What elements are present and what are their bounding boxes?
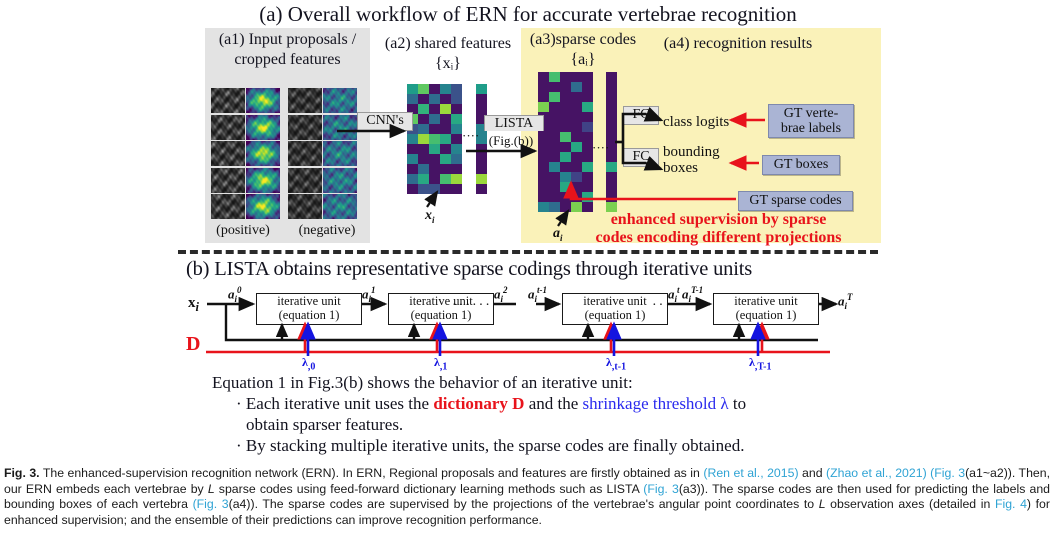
panel-b-ellipsis-2: ······ — [652, 298, 692, 314]
heatmap-cell — [571, 102, 582, 112]
heatmap-cell — [538, 172, 549, 182]
heatmap-cell — [451, 94, 462, 104]
output-bbox-line2: boxes — [663, 160, 698, 176]
heatmap-cell — [440, 164, 451, 174]
heatmap-cell — [549, 92, 560, 102]
heatmap-cell — [571, 192, 582, 202]
heatmap-cell — [571, 92, 582, 102]
feature-heatmap-thumbnail — [246, 194, 280, 219]
heatmap-cell — [549, 182, 560, 192]
heatmap-cell — [538, 102, 549, 112]
panel-b-ellipsis-1: ······ — [452, 298, 492, 314]
activation-label-at-1: ait-1 — [528, 285, 547, 304]
heatmap-cell — [582, 162, 593, 172]
lambda-label-1: λ,1 — [434, 355, 447, 372]
unit-1-line1: iterative unit — [277, 294, 341, 308]
activation-label-a1: ai1 — [362, 285, 376, 304]
heatmap-cell — [440, 84, 451, 94]
lista-figref-label: (Fig.(b)) — [482, 133, 540, 149]
heatmap-cell — [418, 134, 429, 144]
heatmap-cell — [538, 92, 549, 102]
heatmap-cell — [582, 112, 593, 122]
heatmap-cell — [549, 72, 560, 82]
proposal-mri-thumbnail — [288, 141, 322, 166]
figure-caption: Fig. 3. The enhanced-supervision recogni… — [4, 466, 1050, 528]
feature-heatmap-thumbnail — [323, 168, 357, 193]
caption-t7: (a4)). The sparse codes are supervised b… — [229, 497, 819, 511]
heatmap-cell — [560, 102, 571, 112]
heatmap-cell — [582, 192, 593, 202]
heatmap-cell — [571, 132, 582, 142]
heatmap-cell — [549, 102, 560, 112]
panel-a3-ellipsis: ···· — [592, 140, 608, 156]
equation-explanation: Equation 1 in Fig.3(b) shows the behavio… — [212, 372, 892, 456]
heatmap-cell — [440, 124, 451, 134]
panel-b-title: (b) LISTA obtains representative sparse … — [186, 258, 886, 281]
heatmap-cell — [582, 122, 593, 132]
heatmap-cell — [440, 114, 451, 124]
feature-heatmap-thumbnail — [246, 141, 280, 166]
caption-italic-L-2: L — [819, 497, 826, 511]
heatmap-cell — [451, 124, 462, 134]
caption-t8: observation axes (detailed in — [826, 497, 995, 511]
heatmap-cell — [440, 154, 451, 164]
heatmap-cell — [407, 174, 418, 184]
panel-a2-title: (a2) shared features {xᵢ} — [378, 34, 518, 74]
heatmap-cell — [560, 132, 571, 142]
proposal-mri-thumbnail — [288, 115, 322, 140]
heatmap-cell — [549, 172, 560, 182]
sparse-codes-heatmap — [538, 72, 593, 212]
heatmap-cell — [407, 144, 418, 154]
heatmap-cell — [418, 154, 429, 164]
heatmap-strip-cell — [476, 84, 487, 94]
heatmap-cell — [549, 132, 560, 142]
heatmap-cell — [451, 174, 462, 184]
heatmap-cell — [451, 164, 462, 174]
heatmap-cell — [451, 184, 462, 194]
iterative-unit-T: iterative unit (equation 1) — [713, 293, 819, 325]
heatmap-cell — [429, 124, 440, 134]
heatmap-cell — [418, 114, 429, 124]
heatmap-strip-cell — [476, 154, 487, 164]
unit-t-line1: iterative unit — [583, 294, 647, 308]
heatmap-cell — [407, 94, 418, 104]
heatmap-strip-cell — [476, 164, 487, 174]
caption-ref-fig3-a4[interactable]: (Fig. 3 — [193, 497, 229, 511]
proposal-mri-thumbnail — [211, 168, 245, 193]
output-bbox-line1: bounding — [663, 144, 720, 160]
heatmap-cell — [538, 182, 549, 192]
activation-label-a0: ai0 — [228, 285, 242, 304]
feature-heatmap-thumbnail — [323, 115, 357, 140]
heatmap-cell — [549, 192, 560, 202]
caption-t5: sparse codes using feed-forward dictiona… — [215, 482, 644, 496]
heatmap-strip-cell — [606, 122, 617, 132]
enhanced-supervision-note: enhanced supervision by sparse codes enc… — [556, 211, 881, 247]
heatmap-cell — [549, 82, 560, 92]
heatmap-cell — [571, 72, 582, 82]
caption-ref-fig3-a1a2[interactable]: (Fig. 3 — [930, 466, 965, 480]
heatmap-cell — [429, 134, 440, 144]
heatmap-cell — [440, 184, 451, 194]
cnn-operator-label: CNN's — [357, 112, 413, 131]
panel-b-input-label: xi — [188, 295, 199, 315]
heatmap-strip-cell — [606, 192, 617, 202]
caption-citation-zhao[interactable]: (Zhao et al., 2021) — [826, 466, 927, 480]
heatmap-cell — [560, 82, 571, 92]
heatmap-cell — [538, 82, 549, 92]
heatmap-cell — [440, 94, 451, 104]
heatmap-cell — [440, 144, 451, 154]
caption-ref-fig4[interactable]: Fig. 4 — [995, 497, 1027, 511]
heatmap-cell — [440, 174, 451, 184]
proposal-mri-thumbnail — [288, 168, 322, 193]
heatmap-cell — [571, 152, 582, 162]
red-note-line2: codes encoding different projections — [595, 229, 841, 246]
heatmap-cell — [429, 104, 440, 114]
heatmap-cell — [429, 114, 440, 124]
heatmap-cell — [549, 162, 560, 172]
heatmap-cell — [560, 182, 571, 192]
panel-divider — [178, 250, 878, 254]
heatmap-cell — [582, 182, 593, 192]
heatmap-cell — [429, 144, 440, 154]
heatmap-cell — [549, 122, 560, 132]
heatmap-cell — [418, 144, 429, 154]
heatmap-cell — [571, 112, 582, 122]
heatmap-cell — [429, 84, 440, 94]
heatmap-strip-cell — [476, 94, 487, 104]
equation-note-bullet2: · By stacking multiple iterative units, … — [246, 435, 892, 456]
heatmap-cell — [560, 152, 571, 162]
unit-1-line2: (equation 1) — [279, 308, 340, 322]
feature-heatmap-thumbnail — [246, 168, 280, 193]
heatmap-cell — [571, 182, 582, 192]
shared-features-heatmap — [407, 84, 462, 194]
heatmap-cell — [571, 82, 582, 92]
heatmap-cell — [407, 84, 418, 94]
panel-a2-ellipsis: ···· — [462, 128, 478, 144]
bullet1-part-b: and the — [524, 394, 582, 413]
fc-head-class: FC — [623, 106, 659, 125]
red-note-line1: enhanced supervision by sparse — [611, 211, 827, 228]
heatmap-cell — [560, 192, 571, 202]
heatmap-cell — [418, 184, 429, 194]
equation-note-bullet1: · Each iterative unit uses the dictionar… — [246, 393, 892, 414]
heatmap-cell — [418, 164, 429, 174]
feature-heatmap-thumbnail — [323, 141, 357, 166]
heatmap-cell — [407, 184, 418, 194]
heatmap-cell — [560, 92, 571, 102]
proposal-mri-thumbnail — [211, 115, 245, 140]
heatmap-cell — [418, 104, 429, 114]
lista-operator-label: LISTA — [484, 115, 544, 131]
caption-italic-L-1: L — [208, 482, 215, 496]
heatmap-cell — [582, 72, 593, 82]
heatmap-cell — [549, 152, 560, 162]
heatmap-cell — [549, 142, 560, 152]
caption-ref-fig3-a3[interactable]: (Fig. 3 — [643, 482, 679, 496]
heatmap-strip-cell — [476, 184, 487, 194]
gt-vertebrae-labels-line2: brae labels — [781, 121, 841, 136]
bullet1-part-a: · Each iterative unit uses the — [236, 394, 433, 413]
heatmap-strip-cell — [606, 82, 617, 92]
lambda-label-T-1: λ,T-1 — [749, 355, 772, 372]
activation-label-a2: ai2 — [494, 285, 508, 304]
heatmap-cell — [560, 112, 571, 122]
heatmap-cell — [451, 144, 462, 154]
heatmap-cell — [429, 154, 440, 164]
panel-a1-caption-positive: (positive) — [208, 223, 278, 239]
heatmap-cell — [418, 124, 429, 134]
heatmap-cell — [429, 94, 440, 104]
heatmap-cell — [440, 134, 451, 144]
fc-head-bbox: FC — [623, 148, 659, 167]
feature-heatmap-thumbnail — [246, 115, 280, 140]
heatmap-cell — [451, 154, 462, 164]
heatmap-cell — [571, 142, 582, 152]
heatmap-cell — [538, 162, 549, 172]
heatmap-strip-cell — [476, 174, 487, 184]
heatmap-cell — [418, 94, 429, 104]
proposal-mri-thumbnail — [211, 88, 245, 113]
gt-boxes-box: GT boxes — [762, 155, 840, 175]
proposal-mri-thumbnail — [288, 88, 322, 113]
heatmap-cell — [429, 164, 440, 174]
heatmap-cell — [560, 172, 571, 182]
heatmap-cell — [582, 172, 593, 182]
caption-t2: and — [799, 466, 826, 480]
lista-label-text: LISTA — [495, 116, 534, 131]
heatmap-cell — [538, 72, 549, 82]
unit-T-line2: (equation 1) — [736, 308, 797, 322]
heatmap-cell — [560, 72, 571, 82]
heatmap-cell — [549, 112, 560, 122]
lambda-label-t-1: λ,t-1 — [606, 355, 626, 372]
heatmap-cell — [451, 104, 462, 114]
heatmap-cell — [571, 122, 582, 132]
bullet1-dictionary: dictionary D — [433, 394, 524, 413]
output-bounding-boxes: bounding boxes — [663, 144, 731, 176]
heatmap-strip-cell — [606, 162, 617, 172]
caption-t1: The enhanced-supervision recognition net… — [40, 466, 704, 480]
panel-b-dictionary-label: D — [186, 333, 200, 356]
heatmap-cell — [582, 92, 593, 102]
heatmap-cell — [451, 134, 462, 144]
panel-a4-title: (a4) recognition results — [648, 34, 828, 54]
heatmap-cell — [560, 122, 571, 132]
panel-a1-caption-negative: (negative) — [288, 223, 366, 239]
equation-note-line1: Equation 1 in Fig.3(b) shows the behavio… — [212, 372, 892, 393]
panel-a1-title: (a1) Input proposals / cropped features — [205, 30, 370, 70]
feature-heatmap-thumbnail — [323, 88, 357, 113]
output-class-logits: class logits — [663, 114, 753, 130]
heatmap-strip-cell — [606, 92, 617, 102]
equation-note-bullet1-cont: obtain sparser features. — [246, 414, 892, 435]
caption-label: Fig. 3. — [4, 466, 40, 480]
heatmap-cell — [571, 172, 582, 182]
heatmap-cell — [407, 134, 418, 144]
gt-vertebrae-labels-line1: GT verte- — [784, 106, 839, 121]
heatmap-strip-cell — [606, 112, 617, 122]
heatmap-cell — [582, 102, 593, 112]
unit-T-line1: iterative unit — [734, 294, 798, 308]
proposal-mri-thumbnail — [288, 194, 322, 219]
heatmap-cell — [440, 104, 451, 114]
unit-t-line2: (equation 1) — [585, 308, 646, 322]
heatmap-strip-cell — [606, 102, 617, 112]
heatmap-cell — [418, 174, 429, 184]
heatmap-cell — [451, 114, 462, 124]
heatmap-cell — [429, 174, 440, 184]
activation-label-aT: aiT — [838, 292, 853, 311]
heatmap-cell — [418, 84, 429, 94]
heatmap-cell — [560, 162, 571, 172]
heatmap-cell — [538, 192, 549, 202]
panel-a3-title: (a3)sparse codes {aᵢ} — [518, 30, 648, 70]
proposal-mri-thumbnail — [211, 194, 245, 219]
heatmap-cell — [538, 202, 549, 212]
heatmap-cell — [429, 184, 440, 194]
gt-sparse-codes-box: GT sparse codes — [738, 191, 853, 211]
heatmap-strip-cell — [606, 182, 617, 192]
heatmap-cell — [560, 142, 571, 152]
heatmap-cell — [407, 164, 418, 174]
caption-citation-ren[interactable]: (Ren et al., 2015) — [703, 466, 798, 480]
iterative-unit-1: iterative unit (equation 1) — [256, 293, 362, 325]
heatmap-strip-cell — [606, 72, 617, 82]
heatmap-strip-cell — [476, 104, 487, 114]
proposal-mri-thumbnail — [211, 141, 245, 166]
panel-a-title: (a) Overall workflow of ERN for accurate… — [178, 2, 878, 27]
bullet1-part-c: to — [729, 394, 746, 413]
gt-vertebrae-labels-box: GT verte- brae labels — [768, 104, 854, 138]
heatmap-cell — [451, 84, 462, 94]
lambda-label-0: λ,0 — [302, 355, 315, 372]
figure-root: (a) Overall workflow of ERN for accurate… — [0, 0, 1054, 538]
shared-features-vector-label: xi — [425, 208, 435, 225]
heatmap-cell — [571, 162, 582, 172]
feature-heatmap-thumbnail — [246, 88, 280, 113]
heatmap-cell — [407, 154, 418, 164]
heatmap-cell — [538, 152, 549, 162]
bullet1-shrinkage: shrinkage threshold λ — [583, 394, 729, 413]
feature-heatmap-thumbnail — [323, 194, 357, 219]
heatmap-strip-cell — [606, 172, 617, 182]
heatmap-cell — [582, 82, 593, 92]
